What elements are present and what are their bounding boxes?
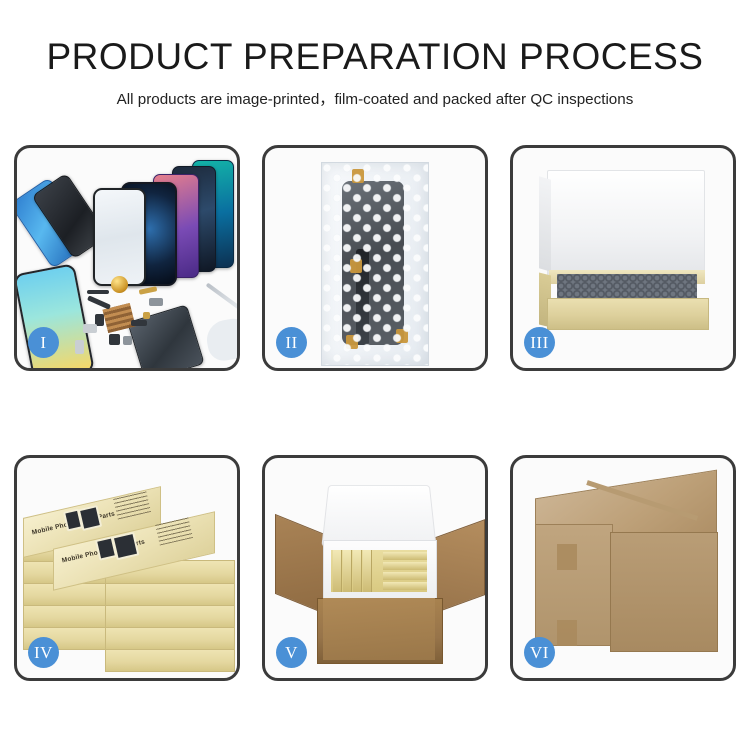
spare-part — [83, 324, 97, 333]
kraft-box-flat — [383, 562, 427, 570]
kraft-box-flat — [383, 582, 427, 590]
stacked-box — [105, 648, 235, 672]
carton-tab — [557, 620, 577, 646]
spare-part — [109, 334, 120, 345]
step-badge-1: I — [28, 327, 59, 358]
box-label-window — [112, 532, 140, 561]
step-badge-2: II — [276, 327, 307, 358]
kraft-box-edge — [353, 550, 362, 592]
white-foam-lid — [547, 170, 705, 280]
spare-part — [75, 340, 84, 354]
phone-large-foreground — [14, 263, 95, 371]
stacked-box — [105, 626, 235, 650]
header: PRODUCT PREPARATION PROCESS All products… — [0, 38, 750, 109]
spare-part — [87, 295, 111, 309]
step-badge-3: III — [524, 327, 555, 358]
step-panel-6: VI — [510, 455, 736, 681]
bubble-wrap-bag — [321, 162, 429, 366]
kraft-box-flat — [383, 572, 427, 580]
styrofoam-lid — [321, 485, 436, 547]
step-badge-5: V — [276, 637, 307, 668]
packed-kraft-boxes — [331, 550, 427, 592]
kraft-box-base — [547, 298, 709, 330]
page-subtitle: All products are image-printed，film-coat… — [0, 87, 750, 109]
tweezers — [206, 283, 240, 310]
tempered-glass-protector — [93, 188, 146, 286]
step-panel-4: Mobile Phone Spare Parts Mobile Phone Sp… — [14, 455, 240, 681]
step-panel-1: I — [14, 145, 240, 371]
bubble-texture — [322, 163, 428, 365]
kraft-box-edge — [363, 550, 372, 592]
step-panel-3: III — [510, 145, 736, 371]
step-badge-6: VI — [524, 637, 555, 668]
stacked-box — [105, 604, 235, 628]
spare-part — [123, 336, 132, 345]
gloved-hand — [204, 317, 240, 363]
kraft-box-edge — [343, 550, 352, 592]
carton-tab — [557, 544, 577, 570]
spare-part — [143, 312, 150, 319]
kraft-box-edge — [333, 550, 342, 592]
phone-back-housing — [127, 304, 204, 371]
carton-front-face — [323, 598, 435, 660]
spare-part — [149, 298, 163, 306]
page-title: PRODUCT PREPARATION PROCESS — [0, 38, 750, 77]
stacked-box — [105, 582, 235, 606]
steps-grid: I II — [14, 145, 736, 681]
spare-part — [131, 320, 147, 326]
infographic-page: PRODUCT PREPARATION PROCESS All products… — [0, 0, 750, 750]
vibration-motor — [111, 276, 128, 293]
step-panel-5: V — [262, 455, 488, 681]
step-badge-4: IV — [28, 637, 59, 668]
carton-right-face — [610, 532, 718, 652]
spare-part — [139, 286, 158, 295]
step-panel-2: II — [262, 145, 488, 371]
foam-lid-side — [539, 176, 551, 271]
kraft-box-flat — [383, 552, 427, 560]
spare-part — [87, 290, 109, 294]
